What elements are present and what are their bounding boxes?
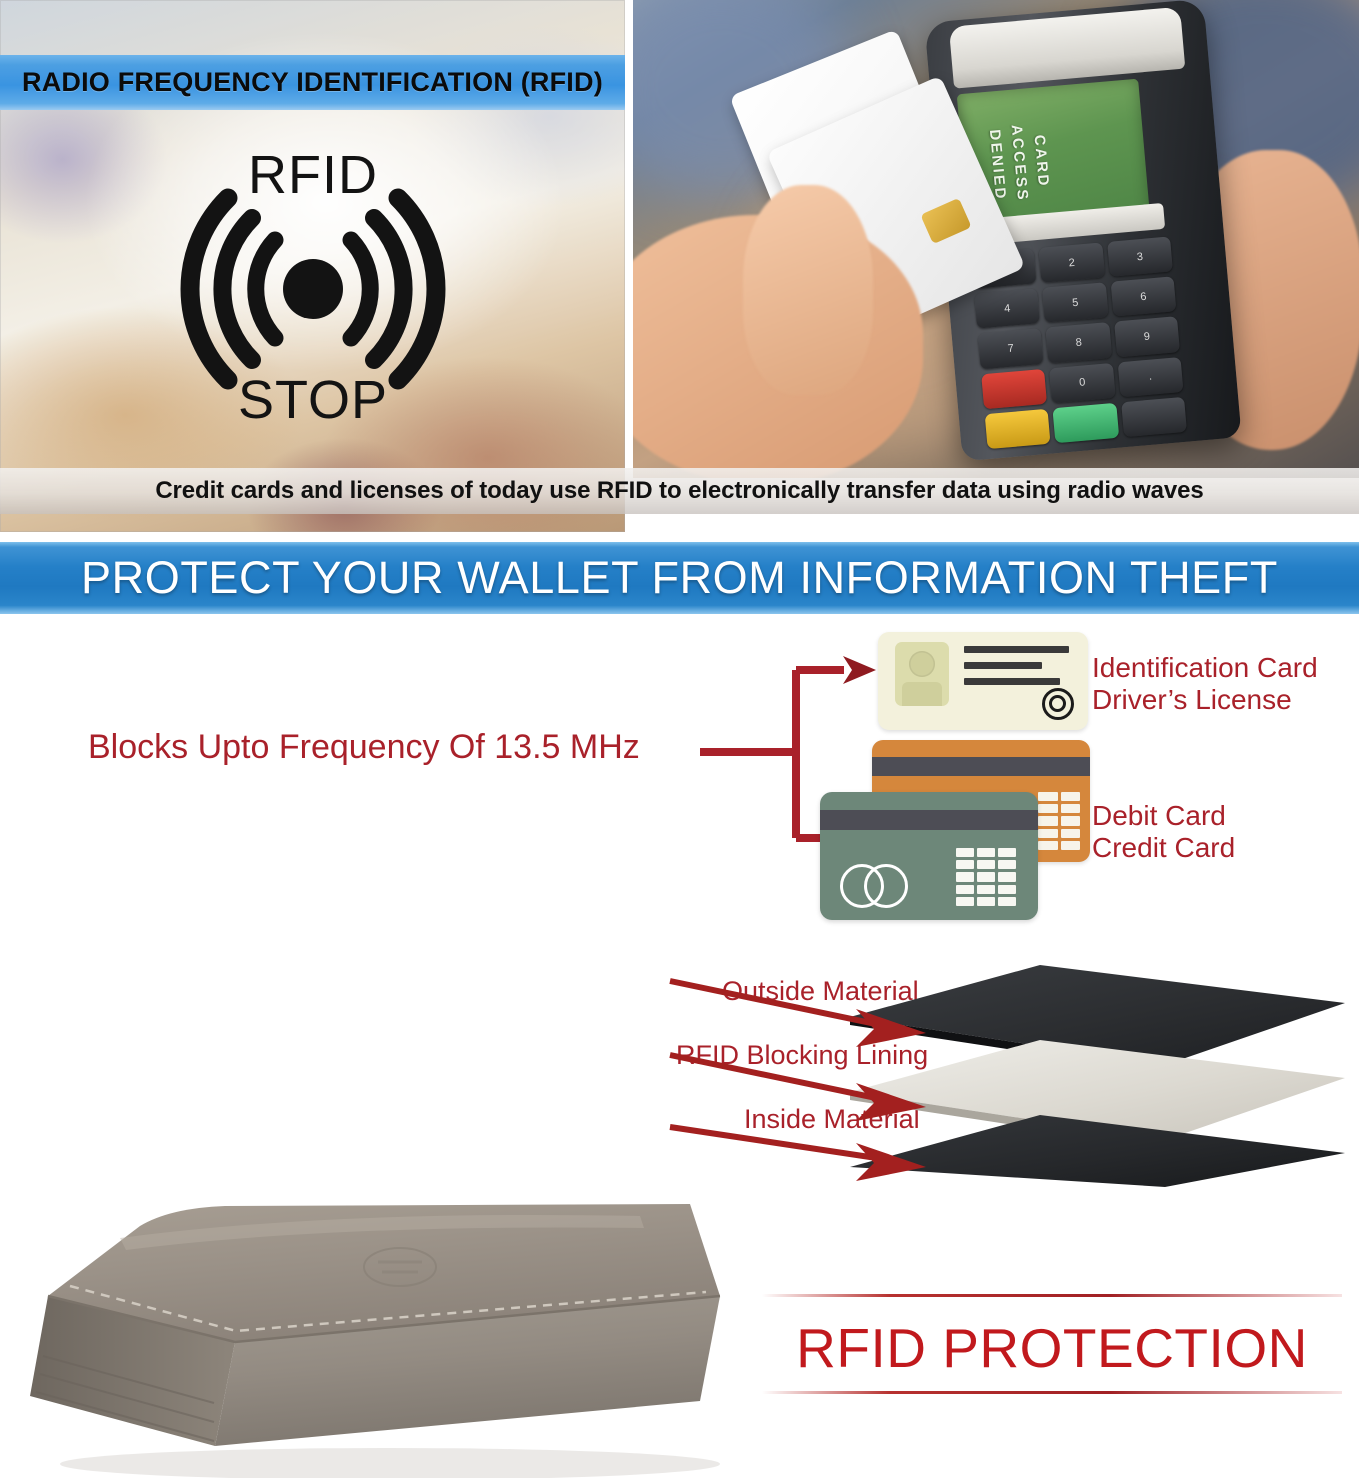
debit-credit-card-label: Debit Card Credit Card xyxy=(1092,800,1235,864)
id-text-line xyxy=(964,646,1069,653)
label-line-1: Debit Card xyxy=(1092,800,1235,832)
keypad-key: 9 xyxy=(1114,317,1180,358)
rfid-chip-icon xyxy=(1042,688,1074,720)
divider-line xyxy=(762,1294,1342,1297)
card-illustrations xyxy=(820,632,1090,922)
headline-banner: PROTECT YOUR WALLET FROM INFORMATION THE… xyxy=(0,542,1359,614)
id-photo-shoulders xyxy=(902,682,942,706)
top-photo-section: RADIO FREQUENCY IDENTIFICATION (RFID) RF… xyxy=(0,0,1359,532)
card-number-blocks xyxy=(956,848,1016,906)
id-photo-placeholder xyxy=(895,642,949,706)
divider-line xyxy=(762,1391,1342,1394)
logo-ring xyxy=(864,864,908,908)
id-text-line xyxy=(964,678,1060,685)
id-text-line xyxy=(964,662,1042,669)
rfid-stop-logo: RFID STOP xyxy=(178,148,448,423)
keypad-key: 3 xyxy=(1107,236,1173,277)
pos-terminal-photo: CARD ACCESS DENIED 1 2 3 4 5 6 7 8 9 0 . xyxy=(633,0,1359,478)
rfid-title-bar: RADIO FREQUENCY IDENTIFICATION (RFID) xyxy=(0,55,625,110)
keypad-key: 4 xyxy=(974,288,1040,329)
keypad-key: 8 xyxy=(1046,322,1112,363)
keypad-clear-key xyxy=(985,409,1051,450)
keypad-key xyxy=(1121,397,1187,438)
receipt-printer xyxy=(949,7,1186,89)
identification-card-label: Identification Card Driver’s License xyxy=(1092,652,1318,716)
pos-screen-line: CARD xyxy=(1031,134,1053,189)
keypad-key: 2 xyxy=(1039,242,1105,283)
label-line-2: Driver’s License xyxy=(1092,684,1318,716)
keypad-key: 5 xyxy=(1042,282,1108,323)
photo-caption-strip: Credit cards and licenses of today use R… xyxy=(0,468,1359,514)
label-line-2: Credit Card xyxy=(1092,832,1235,864)
keypad-key: 0 xyxy=(1049,363,1115,404)
wallet-product-photo xyxy=(0,1146,770,1478)
keypad-key: 6 xyxy=(1110,276,1176,317)
identification-card xyxy=(878,632,1088,730)
frequency-label: Blocks Upto Frequency Of 13.5 MHz xyxy=(88,728,640,767)
card-number-blocks xyxy=(1038,792,1080,850)
rfid-logo-panel: RADIO FREQUENCY IDENTIFICATION (RFID) RF… xyxy=(0,0,625,532)
rfid-protection-title: RFID PROTECTION xyxy=(752,1316,1352,1380)
headline-text: PROTECT YOUR WALLET FROM INFORMATION THE… xyxy=(81,552,1278,604)
label-line-1: Identification Card xyxy=(1092,652,1318,684)
keypad-enter-key xyxy=(1053,403,1119,444)
magnetic-stripe xyxy=(872,757,1090,776)
inside-material-sheet xyxy=(850,1115,1345,1187)
rfid-protection-footer: RFID PROTECTION xyxy=(752,1288,1352,1408)
rfid-signal-icon xyxy=(178,182,448,397)
keypad-key: . xyxy=(1117,357,1183,398)
rfid-logo-bottom-word: STOP xyxy=(178,373,448,427)
keypad-cancel-key xyxy=(981,368,1047,409)
pos-screen-line: ACCESS xyxy=(1008,124,1032,203)
id-photo-head xyxy=(909,651,935,677)
debit-card-green xyxy=(820,792,1038,920)
thumb xyxy=(743,185,873,395)
wallet-shadow xyxy=(60,1448,720,1478)
rfid-title-text: RADIO FREQUENCY IDENTIFICATION (RFID) xyxy=(0,67,603,98)
card-network-logo xyxy=(840,864,906,904)
keypad-key: 7 xyxy=(978,328,1044,369)
magnetic-stripe xyxy=(820,810,1038,830)
photo-caption-text: Credit cards and licenses of today use R… xyxy=(155,477,1203,505)
